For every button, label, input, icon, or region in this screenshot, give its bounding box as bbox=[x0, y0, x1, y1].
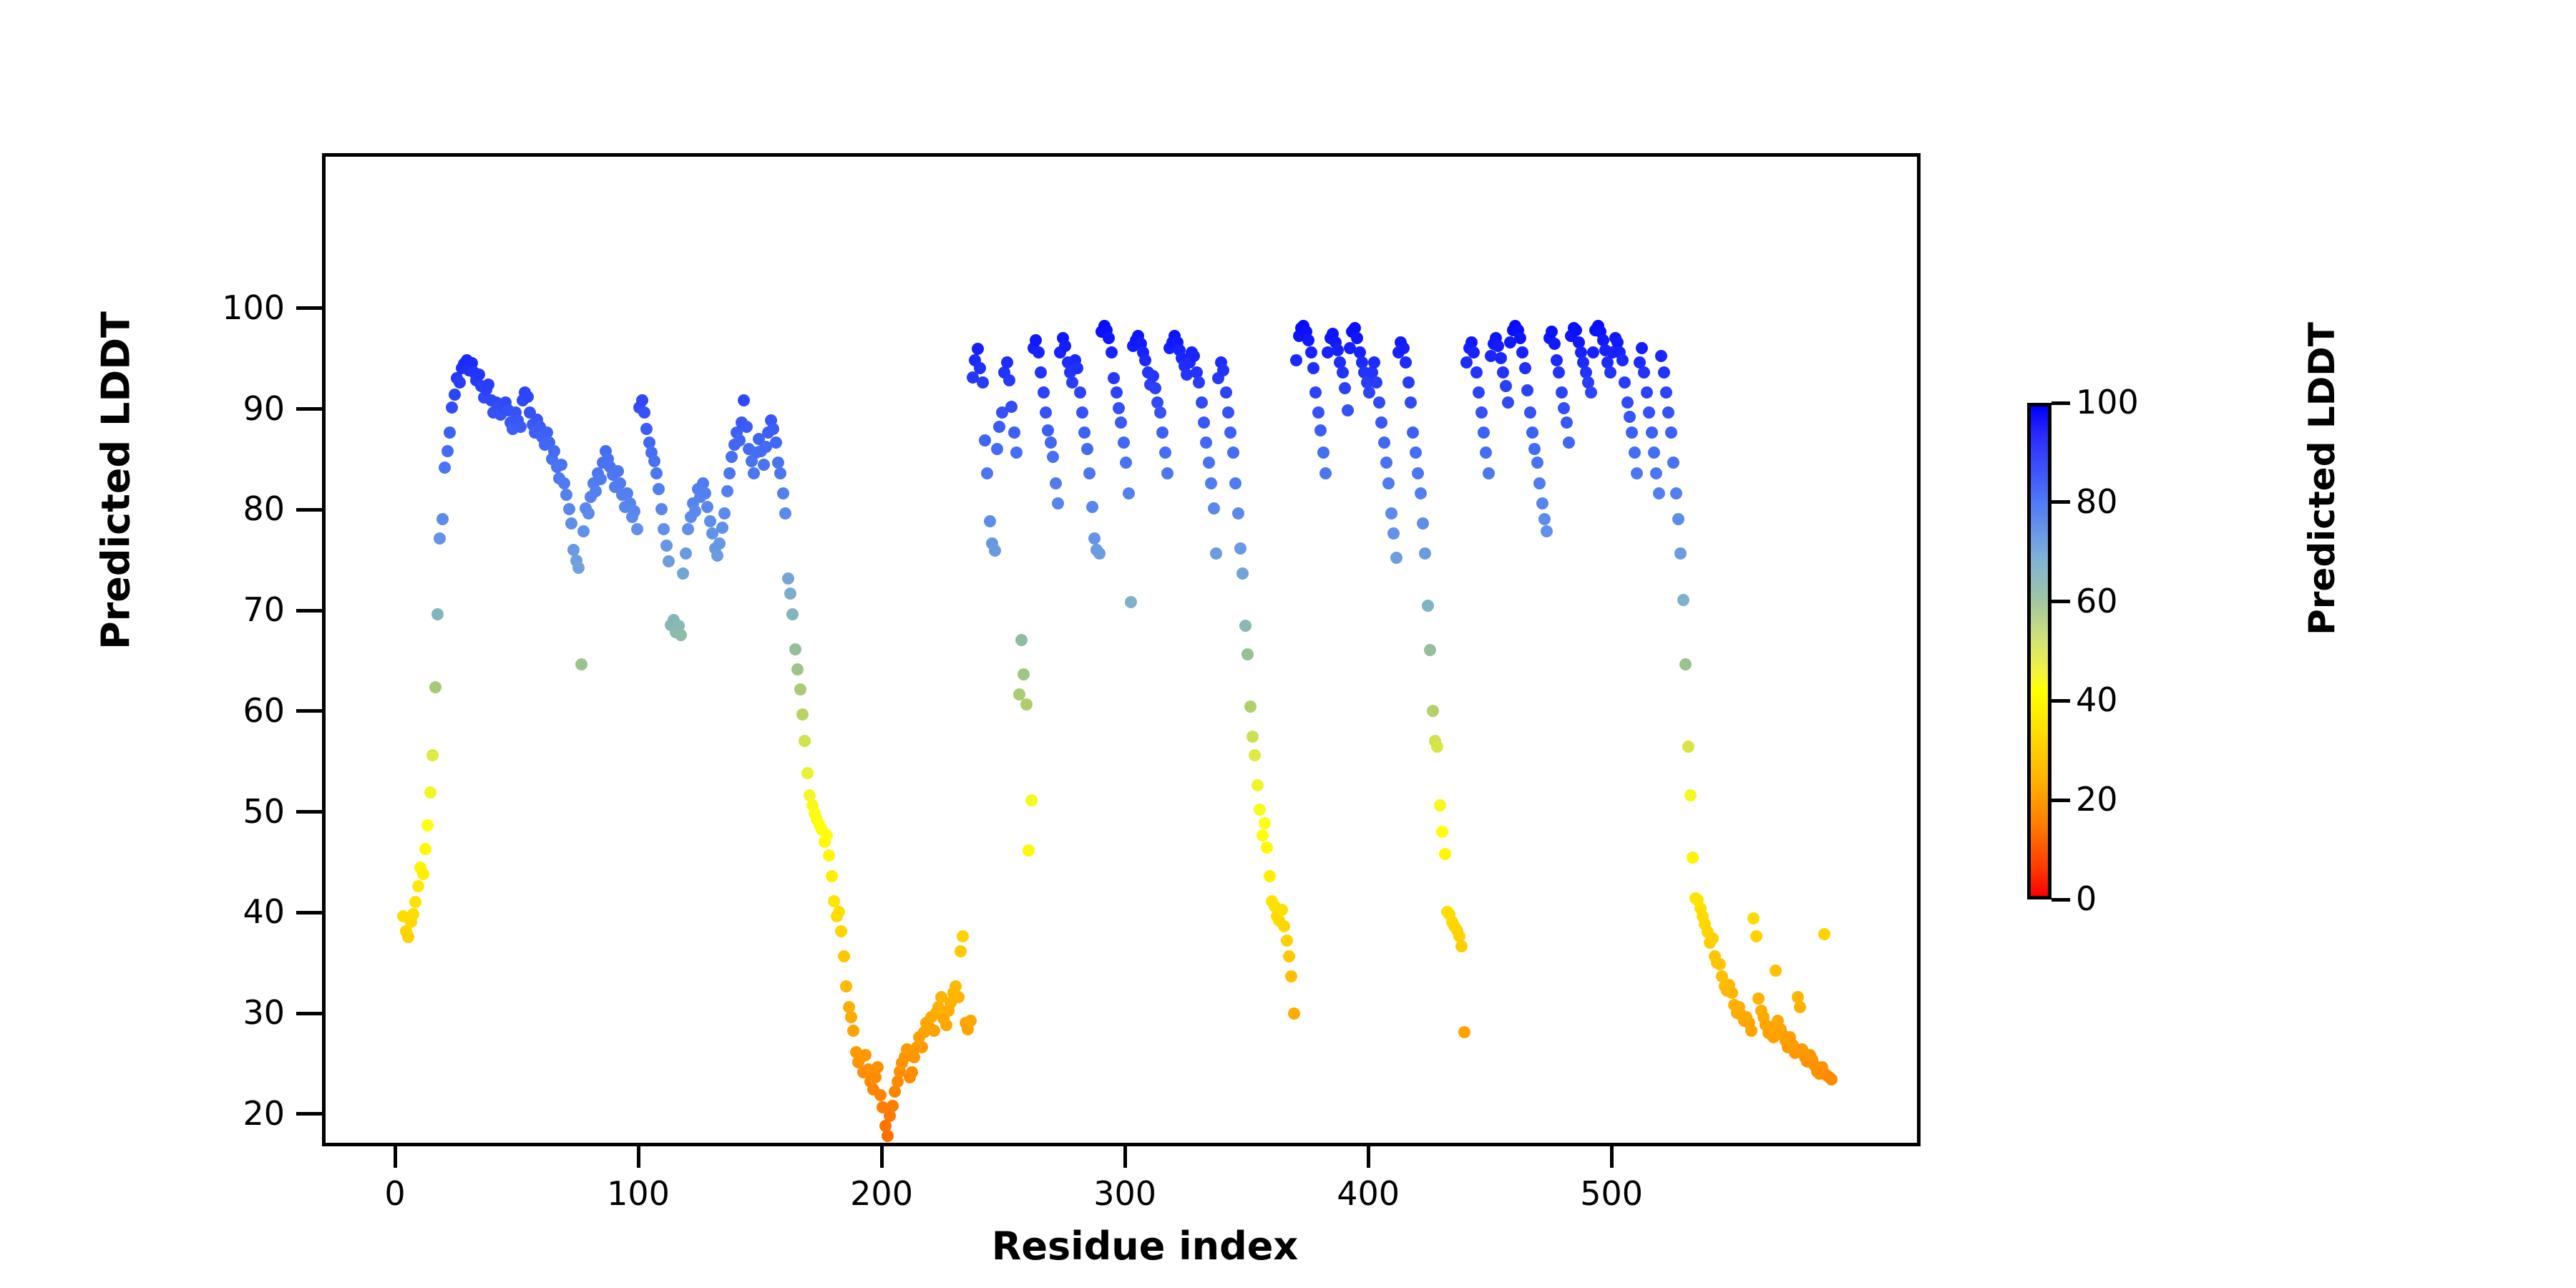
scatter-point bbox=[555, 459, 567, 471]
scatter-point bbox=[799, 735, 811, 747]
scatter-point bbox=[1516, 346, 1528, 358]
scatter-point bbox=[1076, 406, 1088, 419]
scatter-point bbox=[1188, 350, 1200, 362]
scatter-point bbox=[782, 572, 794, 585]
scatter-point bbox=[680, 547, 692, 560]
scatter-point bbox=[567, 544, 580, 556]
colorbar-tick-mark bbox=[2051, 401, 2070, 405]
scatter-point bbox=[444, 426, 456, 439]
scatter-point bbox=[1665, 426, 1677, 439]
scatter-point bbox=[522, 391, 534, 403]
colorbar-tick-label: 100 bbox=[2076, 386, 2139, 419]
scatter-point bbox=[796, 708, 809, 721]
scatter-point bbox=[1519, 362, 1531, 374]
scatter-point bbox=[1402, 376, 1415, 389]
scatter-point bbox=[1015, 634, 1028, 646]
scatter-point bbox=[1288, 1008, 1300, 1020]
scatter-point bbox=[965, 1015, 977, 1027]
scatter-point bbox=[689, 505, 701, 517]
scatter-point bbox=[872, 1061, 884, 1073]
scatter-point bbox=[1081, 443, 1093, 455]
scatter-point bbox=[1674, 547, 1687, 560]
scatter-point bbox=[1001, 356, 1013, 369]
scatter-point bbox=[1241, 648, 1254, 660]
scatter-point bbox=[704, 515, 716, 527]
scatter-point bbox=[1281, 935, 1293, 947]
scatter-point bbox=[1650, 467, 1662, 479]
scatter-point bbox=[821, 829, 833, 841]
scatter-point bbox=[1521, 384, 1533, 396]
scatter-point bbox=[801, 767, 814, 779]
scatter-point bbox=[1707, 932, 1719, 945]
y-axis-label: Predicted LDDT bbox=[94, 288, 139, 674]
scatter-point bbox=[1261, 841, 1273, 854]
scatter-point bbox=[1071, 362, 1083, 374]
scatter-point bbox=[558, 477, 570, 489]
scatter-point bbox=[514, 421, 527, 433]
scatter-point bbox=[595, 473, 607, 485]
scatter-point bbox=[682, 523, 694, 535]
scatter-point bbox=[1224, 426, 1236, 439]
scatter-point bbox=[952, 991, 965, 1003]
scatter-point bbox=[446, 401, 458, 414]
scatter-point bbox=[565, 517, 577, 530]
scatter-point bbox=[1159, 447, 1171, 459]
scatter-point bbox=[1563, 436, 1575, 449]
scatter-point bbox=[575, 658, 587, 670]
scatter-point bbox=[989, 545, 1001, 557]
scatter-point bbox=[1556, 386, 1568, 399]
scatter-point bbox=[1149, 382, 1161, 394]
scatter-points-layer bbox=[326, 157, 1917, 1143]
scatter-point bbox=[993, 421, 1005, 433]
scatter-point bbox=[1397, 342, 1410, 354]
scatter-point bbox=[1667, 457, 1679, 469]
scatter-point bbox=[1412, 467, 1424, 479]
scatter-point bbox=[741, 421, 753, 433]
scatter-point bbox=[1682, 741, 1694, 753]
x-tick-label: 500 bbox=[1540, 1177, 1683, 1210]
scatter-point bbox=[758, 459, 770, 471]
scatter-point bbox=[1193, 376, 1205, 389]
scatter-point bbox=[1314, 424, 1327, 436]
scatter-point bbox=[977, 376, 989, 389]
scatter-point bbox=[1621, 396, 1634, 409]
scatter-point bbox=[1528, 443, 1541, 455]
scatter-point bbox=[1246, 731, 1259, 743]
scatter-point bbox=[1332, 344, 1344, 356]
y-tick-mark bbox=[296, 810, 322, 814]
scatter-point bbox=[1439, 848, 1451, 860]
scatter-point bbox=[1257, 829, 1269, 841]
x-axis-label: Residue index bbox=[716, 1224, 1574, 1269]
scatter-point bbox=[1259, 817, 1271, 829]
scatter-point bbox=[1030, 334, 1042, 346]
scatter-point bbox=[1154, 406, 1166, 419]
scatter-point bbox=[1123, 487, 1135, 499]
scatter-point bbox=[1342, 404, 1354, 416]
x-tick-mark bbox=[637, 1146, 640, 1168]
scatter-point bbox=[1561, 416, 1573, 429]
scatter-point bbox=[454, 376, 466, 389]
scatter-point bbox=[1234, 542, 1246, 555]
scatter-point bbox=[407, 908, 419, 920]
scatter-point bbox=[1380, 457, 1392, 469]
scatter-point bbox=[784, 587, 796, 600]
scatter-point bbox=[1161, 467, 1174, 479]
scatter-point bbox=[1385, 507, 1397, 519]
scatter-point bbox=[1249, 749, 1261, 761]
scatter-point bbox=[1636, 342, 1648, 354]
y-tick-mark bbox=[296, 407, 322, 411]
scatter-point bbox=[1478, 426, 1490, 439]
x-tick-label: 300 bbox=[1053, 1177, 1196, 1210]
x-tick-label: 0 bbox=[323, 1177, 467, 1210]
scatter-point bbox=[1278, 920, 1290, 932]
scatter-point bbox=[1533, 477, 1546, 489]
y-tick-label: 50 bbox=[170, 795, 285, 828]
scatter-point bbox=[974, 362, 986, 374]
y-tick-mark bbox=[296, 1012, 322, 1015]
scatter-point bbox=[711, 550, 723, 562]
scatter-point bbox=[1254, 804, 1266, 816]
x-tick-mark bbox=[880, 1146, 884, 1168]
scatter-point bbox=[916, 1041, 928, 1053]
y-tick-label: 60 bbox=[170, 694, 285, 727]
scatter-point bbox=[1290, 354, 1302, 366]
scatter-point bbox=[859, 1049, 872, 1061]
scatter-point bbox=[1106, 346, 1118, 358]
scatter-point bbox=[1458, 1026, 1470, 1038]
y-tick-label: 100 bbox=[170, 291, 285, 324]
scatter-point bbox=[1424, 644, 1436, 656]
scatter-point bbox=[1546, 326, 1558, 338]
scatter-point bbox=[726, 451, 738, 463]
scatter-point bbox=[590, 485, 602, 497]
scatter-point bbox=[1679, 658, 1692, 670]
scatter-point bbox=[1631, 467, 1643, 479]
y-tick-label: 40 bbox=[170, 895, 285, 928]
scatter-point bbox=[1047, 451, 1059, 463]
scatter-point bbox=[1405, 396, 1417, 409]
scatter-point bbox=[677, 567, 689, 580]
scatter-point bbox=[701, 501, 713, 513]
scatter-point bbox=[417, 868, 429, 880]
scatter-point bbox=[1210, 547, 1222, 560]
scatter-point bbox=[1553, 366, 1565, 379]
scatter-point bbox=[1483, 467, 1495, 479]
scatter-point bbox=[640, 423, 653, 435]
scatter-point bbox=[838, 950, 850, 962]
scatter-point bbox=[1023, 844, 1035, 857]
scatter-point bbox=[1653, 487, 1665, 499]
scatter-point bbox=[1500, 380, 1512, 392]
x-tick-label: 200 bbox=[810, 1177, 953, 1210]
scatter-point bbox=[409, 896, 421, 908]
scatter-point bbox=[434, 532, 446, 545]
scatter-point bbox=[631, 523, 643, 535]
scatter-point bbox=[1045, 436, 1057, 449]
scatter-point bbox=[1646, 426, 1658, 439]
scatter-point bbox=[1558, 402, 1570, 414]
colorbar-tick-label: 80 bbox=[2076, 485, 2118, 518]
scatter-point bbox=[1033, 346, 1045, 358]
scatter-point bbox=[1677, 594, 1689, 606]
scatter-point bbox=[1526, 426, 1538, 439]
scatter-point bbox=[1536, 497, 1548, 509]
scatter-point bbox=[1203, 457, 1215, 469]
scatter-point bbox=[1370, 376, 1382, 389]
scatter-point bbox=[1088, 532, 1101, 545]
scatter-point bbox=[1302, 334, 1314, 346]
scatter-point bbox=[1003, 374, 1015, 386]
y-tick-mark bbox=[296, 911, 322, 914]
scatter-point bbox=[1156, 426, 1169, 439]
scatter-point bbox=[628, 505, 640, 517]
scatter-point bbox=[1570, 324, 1582, 336]
colorbar-tick-mark bbox=[2051, 699, 2070, 703]
scatter-point bbox=[1382, 477, 1395, 489]
scatter-point bbox=[1684, 789, 1697, 801]
scatter-point bbox=[738, 394, 750, 406]
scatter-point bbox=[1660, 386, 1672, 399]
scatter-point bbox=[1604, 366, 1616, 379]
scatter-point bbox=[1470, 366, 1483, 379]
scatter-point bbox=[979, 434, 991, 447]
scatter-point bbox=[786, 608, 799, 620]
scatter-point bbox=[1407, 426, 1419, 439]
scatter-point bbox=[1400, 356, 1412, 369]
scatter-point bbox=[1220, 386, 1232, 399]
scatter-point bbox=[1222, 406, 1234, 419]
y-tick-mark bbox=[296, 1112, 322, 1116]
y-tick-mark bbox=[296, 508, 322, 512]
scatter-point bbox=[1417, 517, 1429, 530]
scatter-point bbox=[1147, 370, 1159, 382]
scatter-point bbox=[1750, 930, 1762, 942]
scatter-point bbox=[1205, 477, 1217, 489]
scatter-point bbox=[663, 555, 675, 567]
scatter-point bbox=[1042, 424, 1054, 436]
scatter-point bbox=[957, 930, 969, 942]
x-tick-mark bbox=[394, 1146, 397, 1168]
x-tick-mark bbox=[1123, 1146, 1127, 1168]
scatter-point bbox=[650, 467, 663, 479]
scatter-plot-axes bbox=[322, 153, 1921, 1146]
scatter-point bbox=[794, 683, 806, 696]
scatter-point bbox=[828, 895, 840, 907]
scatter-point bbox=[1125, 596, 1137, 608]
scatter-point bbox=[1641, 386, 1653, 399]
scatter-point bbox=[1794, 1001, 1806, 1013]
scatter-point bbox=[940, 1019, 952, 1031]
scatter-point bbox=[1038, 386, 1050, 399]
scatter-point bbox=[1745, 1025, 1757, 1037]
scatter-point bbox=[713, 537, 726, 550]
scatter-point bbox=[1307, 362, 1319, 374]
scatter-point bbox=[823, 849, 835, 862]
scatter-point bbox=[1035, 366, 1047, 379]
scatter-point bbox=[1455, 940, 1468, 952]
scatter-point bbox=[1113, 402, 1125, 414]
scatter-point bbox=[660, 540, 673, 552]
scatter-point bbox=[835, 925, 847, 937]
scatter-point bbox=[1339, 382, 1351, 394]
x-tick-mark bbox=[1610, 1146, 1614, 1168]
scatter-point bbox=[1538, 513, 1551, 525]
scatter-point bbox=[1239, 620, 1252, 632]
scatter-point bbox=[1626, 426, 1638, 439]
scatter-point bbox=[1200, 436, 1212, 449]
scatter-point bbox=[1492, 340, 1504, 352]
y-tick-label: 90 bbox=[170, 392, 285, 425]
scatter-point bbox=[1497, 366, 1509, 379]
scatter-point bbox=[402, 931, 414, 943]
scatter-point bbox=[1232, 507, 1244, 519]
x-tick-label: 100 bbox=[567, 1177, 710, 1210]
scatter-point bbox=[653, 483, 665, 495]
scatter-point bbox=[791, 663, 804, 675]
scatter-point bbox=[1309, 386, 1322, 399]
scatter-point bbox=[1770, 965, 1782, 977]
y-tick-label: 70 bbox=[170, 593, 285, 626]
scatter-point bbox=[1410, 447, 1422, 459]
scatter-point bbox=[1419, 547, 1431, 560]
scatter-point bbox=[1351, 332, 1363, 344]
scatter-point bbox=[1752, 992, 1765, 1005]
scatter-point bbox=[887, 1100, 899, 1112]
scatter-point bbox=[1616, 354, 1629, 366]
scatter-point bbox=[1378, 436, 1390, 449]
scatter-point bbox=[412, 880, 424, 892]
scatter-point bbox=[419, 843, 431, 855]
scatter-point bbox=[1018, 668, 1030, 680]
scatter-point bbox=[1086, 501, 1098, 513]
scatter-point bbox=[431, 608, 444, 620]
scatter-point bbox=[1629, 447, 1641, 459]
figure-canvas: 2030405060708090100 0100200300400500 Pre… bbox=[0, 0, 2576, 1288]
scatter-point bbox=[1227, 447, 1239, 459]
scatter-point bbox=[845, 1011, 857, 1023]
scatter-point bbox=[1264, 870, 1276, 882]
scatter-point bbox=[1747, 912, 1760, 924]
scatter-point bbox=[482, 379, 494, 391]
scatter-point bbox=[1662, 406, 1674, 419]
scatter-point bbox=[779, 507, 791, 519]
scatter-point bbox=[675, 629, 687, 641]
scatter-point bbox=[1672, 513, 1684, 525]
scatter-point bbox=[981, 467, 993, 479]
scatter-point bbox=[1495, 352, 1507, 364]
scatter-point bbox=[1078, 426, 1091, 439]
scatter-point bbox=[1285, 970, 1297, 982]
scatter-point bbox=[612, 465, 624, 477]
scatter-point bbox=[1103, 332, 1115, 344]
scatter-point bbox=[1670, 487, 1682, 499]
scatter-point bbox=[1624, 411, 1636, 423]
scatter-point bbox=[1473, 386, 1485, 399]
scatter-point bbox=[1040, 406, 1052, 419]
scatter-point bbox=[1217, 364, 1229, 376]
scatter-point bbox=[1198, 416, 1210, 429]
scatter-point bbox=[833, 906, 845, 918]
colorbar bbox=[2027, 403, 2051, 899]
scatter-point bbox=[1541, 525, 1553, 537]
scatter-point bbox=[548, 445, 560, 457]
scatter-point bbox=[1196, 396, 1208, 409]
scatter-point bbox=[718, 507, 731, 519]
scatter-point bbox=[1585, 386, 1597, 399]
scatter-point bbox=[1480, 447, 1492, 459]
scatter-point bbox=[1422, 600, 1434, 612]
scatter-point bbox=[436, 513, 449, 525]
colorbar-tick-label: 20 bbox=[2076, 783, 2118, 816]
scatter-point bbox=[572, 562, 585, 574]
colorbar-tick-mark bbox=[2051, 600, 2070, 603]
scatter-point bbox=[1514, 332, 1526, 344]
scatter-point bbox=[473, 369, 485, 381]
x-tick-label: 400 bbox=[1297, 1177, 1440, 1210]
colorbar-tick-mark bbox=[2051, 799, 2070, 802]
scatter-point bbox=[1115, 416, 1127, 429]
scatter-point bbox=[840, 980, 852, 992]
y-tick-label: 20 bbox=[170, 1097, 285, 1130]
scatter-point bbox=[767, 423, 779, 435]
scatter-point bbox=[426, 749, 439, 761]
scatter-point bbox=[1619, 376, 1631, 389]
colorbar-gradient bbox=[2027, 403, 2051, 899]
scatter-point bbox=[1658, 366, 1670, 379]
scatter-point bbox=[1244, 701, 1257, 713]
scatter-point bbox=[928, 1025, 940, 1037]
scatter-point bbox=[1020, 698, 1033, 711]
scatter-point bbox=[1008, 426, 1020, 439]
scatter-point bbox=[1093, 547, 1106, 560]
scatter-point bbox=[1818, 928, 1830, 940]
scatter-point bbox=[1368, 356, 1380, 369]
scatter-point bbox=[1025, 794, 1038, 806]
scatter-point bbox=[1551, 354, 1563, 366]
scatter-point bbox=[770, 436, 782, 449]
scatter-point bbox=[1312, 406, 1324, 419]
scatter-point bbox=[1587, 346, 1599, 358]
colorbar-tick-label: 0 bbox=[2076, 882, 2097, 915]
scatter-point bbox=[1373, 396, 1385, 409]
scatter-point bbox=[1468, 346, 1480, 358]
scatter-point bbox=[1139, 354, 1151, 366]
scatter-point bbox=[638, 406, 650, 419]
scatter-point bbox=[1531, 457, 1543, 469]
y-tick-mark bbox=[296, 609, 322, 613]
scatter-point bbox=[847, 1025, 859, 1037]
scatter-point bbox=[777, 487, 789, 499]
scatter-point bbox=[421, 819, 434, 831]
scatter-point bbox=[1252, 779, 1264, 791]
scatter-point bbox=[774, 467, 786, 479]
scatter-point bbox=[560, 489, 572, 501]
scatter-point bbox=[1276, 904, 1288, 916]
scatter-point bbox=[716, 522, 728, 534]
scatter-point bbox=[1118, 436, 1130, 449]
scatter-point bbox=[439, 462, 451, 474]
scatter-point bbox=[1415, 487, 1427, 499]
scatter-point bbox=[1050, 477, 1062, 489]
scatter-point bbox=[563, 503, 575, 515]
y-tick-label: 30 bbox=[170, 996, 285, 1029]
scatter-point bbox=[1283, 950, 1295, 962]
scatter-point bbox=[1236, 567, 1249, 580]
scatter-point bbox=[906, 1066, 918, 1078]
